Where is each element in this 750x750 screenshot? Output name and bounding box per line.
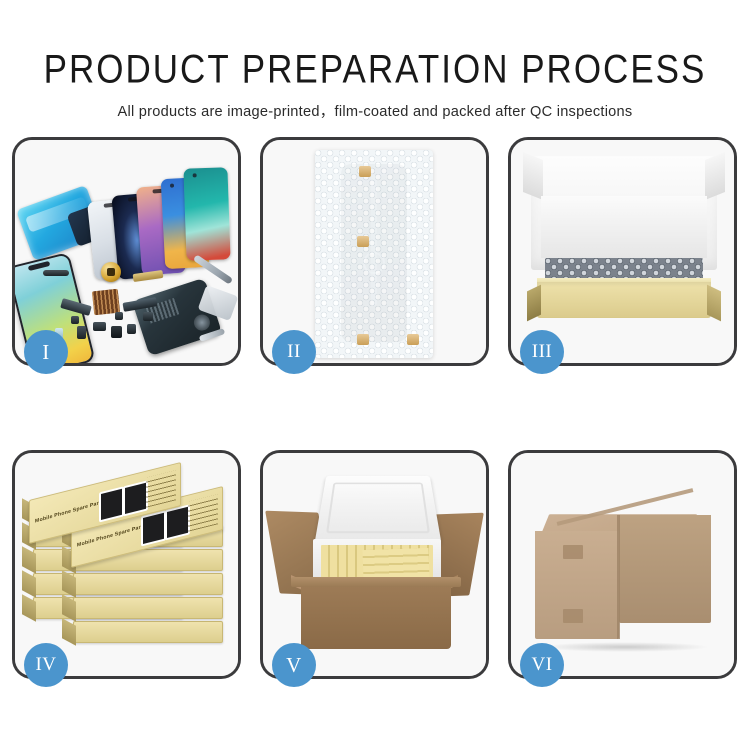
stacked-box	[73, 573, 223, 595]
carton-shadow-graphic	[541, 642, 709, 652]
earpiece-graphic	[43, 270, 69, 276]
box-inner-wall-graphic	[541, 196, 707, 258]
carton-right-face-graphic	[619, 515, 711, 623]
stacked-box	[73, 621, 223, 643]
speaker-module-graphic	[101, 262, 121, 282]
page-root: PRODUCT PREPARATION PROCESS All products…	[0, 0, 750, 750]
carton-tape-patch-graphic	[563, 545, 583, 559]
box-spec-lines	[188, 494, 218, 532]
bubble-texture-graphic	[315, 150, 433, 358]
small-part-3-graphic	[111, 326, 122, 338]
box-spec-lines	[146, 470, 176, 508]
phone-screen-4-graphic	[183, 167, 230, 260]
small-part-7-graphic	[71, 316, 79, 324]
small-part-2-graphic	[93, 322, 106, 331]
box-screen-thumb	[99, 486, 124, 522]
tape-tab-1-graphic	[359, 166, 371, 177]
small-part-8-graphic	[115, 312, 123, 320]
process-step-6[interactable]: VI	[508, 450, 737, 679]
page-title: PRODUCT PREPARATION PROCESS	[0, 0, 750, 89]
foam-lid-graphic	[315, 476, 442, 543]
step-4-badge: IV	[24, 643, 68, 687]
process-step-grid: I II	[12, 137, 738, 682]
tape-tab-3-graphic	[357, 334, 369, 345]
step-2-badge: II	[272, 330, 316, 374]
process-step-2[interactable]: II	[260, 137, 489, 366]
box-screen-thumb	[141, 510, 166, 546]
carton-front-graphic	[301, 583, 451, 649]
process-step-3[interactable]: III	[508, 137, 737, 366]
tape-tab-4-graphic	[407, 334, 419, 345]
step-5-badge: V	[272, 643, 316, 687]
kraft-box-front-graphic	[537, 282, 711, 318]
tape-tab-2-graphic	[357, 236, 369, 247]
small-part-4-graphic	[127, 324, 136, 334]
page-header: PRODUCT PREPARATION PROCESS All products…	[0, 0, 750, 121]
process-step-1[interactable]: I	[12, 137, 241, 366]
process-step-5[interactable]: V	[260, 450, 489, 679]
step-1-badge: I	[24, 330, 68, 374]
carton-vertical-edge-graphic	[617, 515, 620, 639]
step-3-badge: III	[520, 330, 564, 374]
small-part-6-graphic	[143, 312, 153, 321]
bubble-wrap-bag-graphic	[315, 150, 433, 358]
stacked-box	[73, 597, 223, 619]
process-step-4[interactable]: Mobile Phone Spare Parts Mobile Phone Sp…	[12, 450, 241, 679]
step-6-badge: VI	[520, 643, 564, 687]
carton-tape-patch-graphic	[563, 609, 583, 623]
box-screen-thumb	[123, 481, 148, 517]
box-screen-thumb	[165, 505, 190, 541]
yellow-boxes-row-graphic	[362, 548, 429, 580]
small-part-1-graphic	[77, 326, 86, 339]
box-label-text: Mobile Phone Spare Parts	[35, 499, 104, 524]
